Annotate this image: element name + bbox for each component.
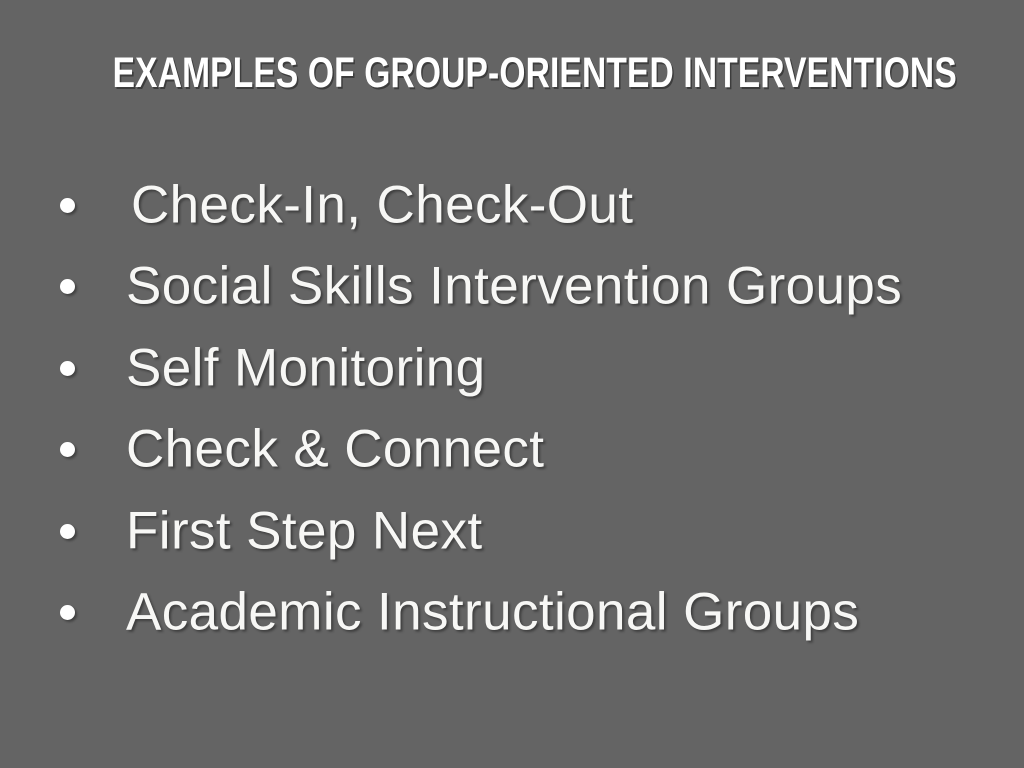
list-item-label: Social Skills Intervention Groups: [126, 260, 902, 313]
bullet-dot-icon: [60, 198, 75, 213]
bullet-dot-icon: [60, 442, 75, 457]
list-item: Self Monitoring: [0, 327, 1024, 409]
list-item-label: Check & Connect: [126, 423, 544, 476]
bullet-dot-icon: [60, 361, 75, 376]
bullet-list: Check-In, Check-Out Social Skills Interv…: [0, 164, 1024, 653]
presentation-slide: Examples of Group-Oriented Interventions…: [0, 0, 1024, 768]
list-item-label: Check-In, Check-Out: [131, 178, 633, 231]
list-item: First Step Next: [0, 490, 1024, 572]
list-item-label: Academic Instructional Groups: [126, 586, 859, 639]
list-item: Check & Connect: [0, 409, 1024, 491]
page-title: Examples of Group-Oriented Interventions: [113, 52, 912, 95]
bullet-dot-icon: [60, 605, 75, 620]
list-item-label: Self Monitoring: [126, 341, 486, 394]
list-item: Check-In, Check-Out: [0, 164, 1024, 246]
bullet-dot-icon: [60, 524, 75, 539]
bullet-dot-icon: [60, 279, 75, 294]
list-item: Academic Instructional Groups: [0, 572, 1024, 654]
list-item-label: First Step Next: [126, 504, 482, 557]
list-item: Social Skills Intervention Groups: [0, 246, 1024, 328]
